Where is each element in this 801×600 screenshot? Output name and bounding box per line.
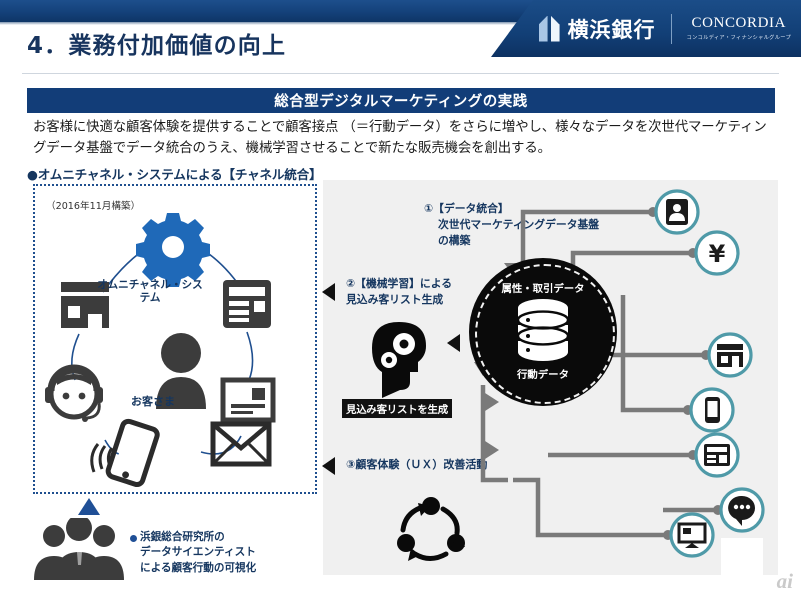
yen-icon: ¥ — [696, 232, 738, 274]
concordia-subtitle: コンコルディア・フィナンシャルグループ — [687, 34, 791, 41]
chat-bubble-icon — [721, 489, 763, 531]
concordia-logo: CONCORDIA コンコルディア・フィナンシャルグループ — [687, 16, 791, 41]
footer-bullet-dot — [130, 535, 137, 542]
customer-label: お客さま — [118, 393, 188, 409]
newspaper-icon — [223, 280, 271, 328]
envelope-icon — [213, 424, 269, 464]
ds-line-2: データサイエンティスト — [140, 546, 256, 558]
slide-root: 横浜銀行 CONCORDIA コンコルディア・フィナンシャルグループ 4．業務付… — [0, 0, 801, 600]
desktop-monitor-icon — [671, 514, 713, 556]
ds-line-1: 浜銀総合研究所の — [140, 531, 225, 543]
watermark-logo: ai — [777, 569, 793, 594]
status-badge: 見込み客リストを生成 — [342, 399, 452, 418]
logo-divider — [671, 14, 672, 44]
smartphone-icon — [691, 389, 733, 431]
person-card-icon — [656, 191, 698, 233]
banner-title: 総合型デジタルマーケティングの実践 — [274, 90, 528, 111]
disc-bottom-label: 行動データ — [469, 366, 617, 381]
disc-top-label: 属性・取引データ — [469, 280, 617, 295]
svg-text:¥: ¥ — [709, 240, 726, 268]
bank-logo-mark-icon — [539, 16, 560, 42]
ux-improvement-cycle-icon — [390, 495, 472, 567]
web-page-icon — [696, 434, 738, 476]
id-card-icon — [223, 380, 273, 420]
head-with-gears-icon — [368, 320, 446, 398]
data-scientists-group-icon — [30, 518, 130, 580]
arc-news-card — [247, 332, 253, 380]
gear-icon — [136, 213, 210, 287]
title-divider — [22, 73, 779, 74]
database-cylinder-icon — [516, 298, 570, 366]
page-title: 4．業務付加価値の向上 — [27, 26, 286, 60]
banner: 総合型デジタルマーケティングの実践 — [27, 88, 775, 113]
watermark-backing — [721, 538, 763, 578]
left-panel-heading: ●オムニチャネル・システムによる【チャネル統合】 — [27, 164, 321, 183]
bank-name: 横浜銀行 — [568, 14, 656, 44]
omnichannel-diagram — [33, 184, 313, 490]
store-icon — [709, 334, 751, 376]
data-scientist-note: 浜銀総合研究所の データサイエンティスト による顧客行動の可視化 — [140, 530, 256, 576]
ds-line-3: による顧客行動の可視化 — [140, 562, 256, 574]
headset-operator-icon — [45, 368, 103, 422]
concordia-name: CONCORDIA — [691, 16, 786, 31]
lead-paragraph: お客様に快適な顧客体験を提供することで顧客接点 （＝行動データ）をさらに増やし、… — [33, 118, 778, 160]
smartphone-signal-icon — [92, 420, 159, 486]
blue-triangle-up-icon — [78, 498, 100, 515]
omnichannel-system-label: オムニチャネル・システム — [95, 279, 205, 305]
